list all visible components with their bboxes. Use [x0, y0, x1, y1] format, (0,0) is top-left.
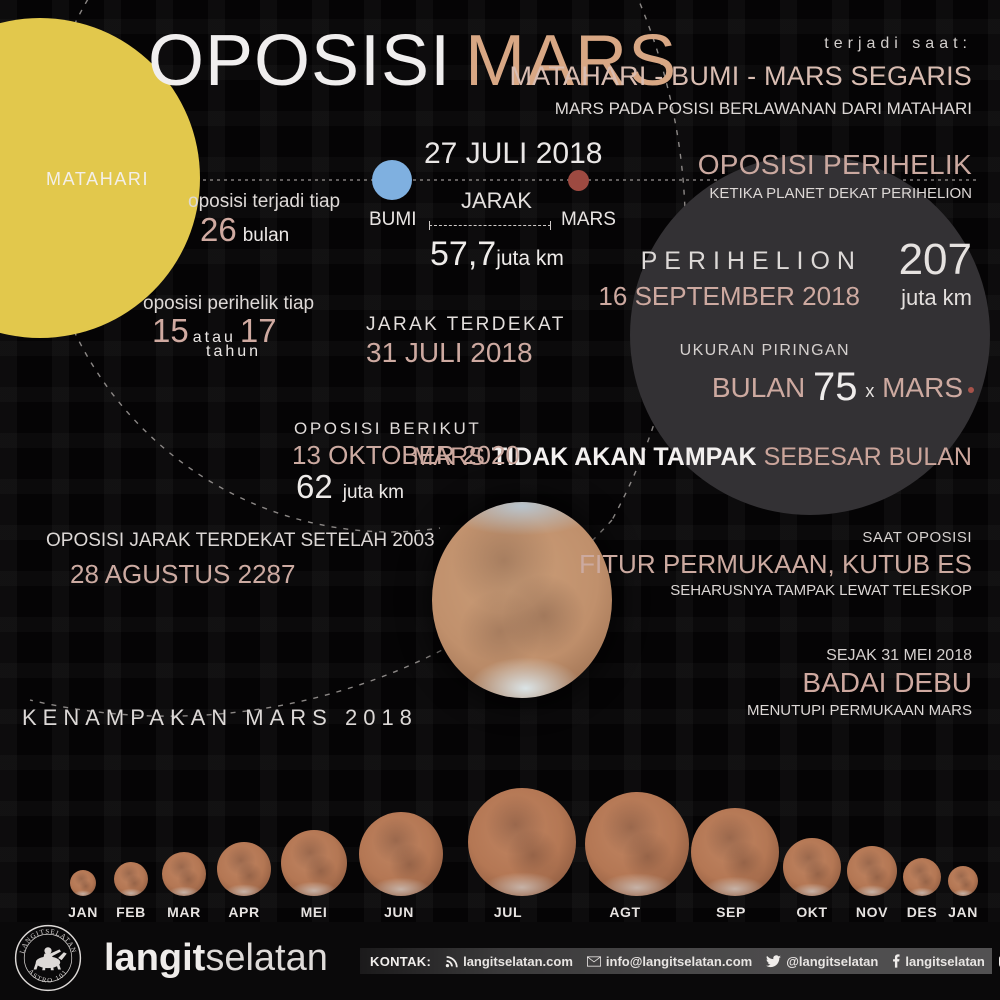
contact-bar: KONTAK: langitselatan.com info@langitsel…	[360, 948, 992, 974]
month-label: JUL	[468, 904, 548, 920]
fact1-value-row: 26bulan	[200, 213, 289, 248]
horse-rider-glyph	[34, 947, 67, 970]
perihelion-date: 16 SEPTEMBER 2018	[598, 283, 860, 310]
fact5-caption: OPOSISI JARAK TERDEKAT SETELAH 2003	[46, 531, 435, 551]
mars-disc-apr-3	[217, 842, 271, 896]
fact4-caption: OPOSISI BERIKUT	[294, 420, 481, 438]
contact-facebook[interactable]: langitselatan	[892, 954, 984, 969]
perihelion-distance-unit: juta km	[901, 286, 972, 309]
contact-website[interactable]: langitselatan.com	[445, 954, 573, 969]
contact-website-text: langitselatan.com	[463, 954, 573, 969]
fact1-number: 26	[200, 211, 237, 248]
surface-kicker: SAAT OPOSISI	[862, 530, 972, 546]
contact-facebook-text: langitselatan	[905, 954, 984, 969]
storm-subtext: MENUTUPI PERMUKAAN MARS	[747, 703, 972, 719]
surface-subtext: SEHARUSNYA TAMPAK LEWAT TELESKOP	[670, 583, 972, 599]
mars-month-cell: JUN	[359, 812, 439, 920]
month-label: JUN	[359, 904, 439, 920]
twitter-icon	[766, 955, 781, 968]
envelope-icon	[587, 956, 601, 967]
moon-word: BULAN	[712, 372, 805, 403]
facebook-icon	[892, 954, 900, 968]
surface-title: FITUR PERMUKAAN, KUTUB ES	[579, 551, 972, 578]
rss-icon	[445, 955, 458, 968]
infographic-canvas: MATAHARI OPOSISIMARS terjadi saat: MATAH…	[0, 0, 1000, 1000]
fact4-number: 62	[296, 468, 333, 505]
mars-month-cell: SEP	[691, 808, 771, 920]
langitselatan-logo-icon: LANGITSELATAN ASTRO 101	[12, 922, 84, 994]
mars-month-cell: APR	[204, 842, 284, 920]
fact1-caption: oposisi terjadi tiap	[188, 192, 340, 212]
disc-size-caption: UKURAN PIRINGAN	[680, 343, 850, 360]
fact3-caption: JARAK TERDEKAT	[366, 315, 566, 335]
mars-month-cell: JAN	[923, 866, 1000, 920]
month-label: APR	[204, 904, 284, 920]
measure-cap-left	[429, 221, 430, 230]
earth-body	[372, 160, 412, 200]
opposition-date: 27 JULI 2018	[424, 138, 602, 170]
contact-twitter-text: @langitselatan	[786, 954, 878, 969]
ratio-factor: 75	[813, 365, 858, 409]
moon-vs-mars-ratio: BULAN 75 x MARS	[712, 366, 974, 408]
brand-selatan: selatan	[205, 937, 328, 979]
mars-label: MARS	[561, 210, 616, 230]
fact1-unit: bulan	[243, 225, 290, 246]
terjadi-saat-kicker: terjadi saat:	[824, 36, 972, 53]
appearance-heading: KENAMPAKAN MARS 2018	[22, 706, 418, 729]
mars-disc-jan-12	[948, 866, 978, 896]
distance-label: JARAK	[461, 189, 532, 212]
fact2-number-a: 15	[152, 312, 189, 349]
fact3-value: 31 JULI 2018	[366, 338, 533, 367]
contact-email-text: info@langitselatan.com	[606, 954, 752, 969]
mars-month-cell: MEI	[274, 830, 354, 920]
sun-label: MATAHARI	[46, 170, 149, 189]
fact4-value-row: 62juta km	[296, 470, 404, 505]
mars-disc-jun-5	[359, 812, 443, 896]
distance-unit: juta km	[496, 247, 564, 270]
fact2-caption: oposisi perihelik tiap	[143, 294, 314, 314]
statement-emphasis: TIDAK AKAN TAMPAK	[492, 443, 757, 471]
brand-wordmark: langitselatan	[104, 937, 328, 980]
contact-email[interactable]: info@langitselatan.com	[587, 954, 752, 969]
mars-month-cell: JUL	[468, 788, 548, 920]
distance-measure-bar	[429, 221, 551, 230]
title-part-oposisi: OPOSISI	[148, 21, 451, 101]
mars-dot-icon	[968, 387, 974, 393]
svg-text:ASTRO 101: ASTRO 101	[27, 968, 70, 984]
alignment-headline: MATAHARI - BUMI - MARS SEGARIS	[509, 62, 972, 90]
fact5-value: 28 AGUSTUS 2287	[70, 561, 295, 588]
earth-label: BUMI	[369, 210, 417, 230]
month-label: AGT	[585, 904, 665, 920]
perihelion-distance-value: 207	[899, 237, 972, 283]
mars-body	[568, 170, 589, 191]
mars-month-cell: AGT	[585, 792, 665, 920]
oposisi-perihelik-subtitle: KETIKA PLANET DEKAT PERIHELION	[709, 186, 972, 202]
mars-word: MARS	[882, 372, 963, 403]
measure-line	[429, 225, 551, 226]
mars-disc-agt-7	[585, 792, 689, 896]
storm-title: BADAI DEBU	[802, 668, 972, 697]
month-label: SEP	[691, 904, 771, 920]
mars-disc-feb-1	[114, 862, 148, 896]
distance-value-row: 57,7juta km	[430, 237, 564, 273]
fact4-unit: juta km	[343, 482, 404, 503]
month-label: JAN	[923, 904, 1000, 920]
mars-disc-jul-6	[468, 788, 576, 896]
measure-cap-right	[550, 221, 551, 230]
perihelion-label: PERIHELION	[641, 248, 862, 274]
oposisi-perihelik-title: OPOSISI PERIHELIK	[698, 150, 972, 179]
month-label: MEI	[274, 904, 354, 920]
footer-bar: LANGITSELATAN ASTRO 101 langitselatan KO…	[0, 922, 1000, 1000]
mars-disc-mar-2	[162, 852, 206, 896]
contact-twitter[interactable]: @langitselatan	[766, 954, 878, 969]
fact4-date: 13 OKTOBER 2020	[292, 442, 520, 469]
mars-size-strip: JANFEBMARAPRMEIJUNJULAGTSEPOKTNOVDESJAN	[0, 760, 1000, 920]
brand-langit: langit	[104, 937, 205, 979]
statement-tail: SEBESAR BULAN	[764, 443, 972, 471]
alignment-subtext: MARS PADA POSISI BERLAWANAN DARI MATAHAR…	[555, 100, 972, 118]
mars-disc-mei-4	[281, 830, 347, 896]
mars-photo	[432, 502, 612, 698]
times-symbol: x	[865, 381, 874, 401]
contact-label: KONTAK:	[370, 954, 431, 969]
mars-disc-sep-8	[691, 808, 779, 896]
storm-kicker: SEJAK 31 MEI 2018	[826, 648, 972, 665]
fact2-unit: tahun	[206, 344, 261, 361]
distance-value: 57,7	[430, 235, 496, 273]
